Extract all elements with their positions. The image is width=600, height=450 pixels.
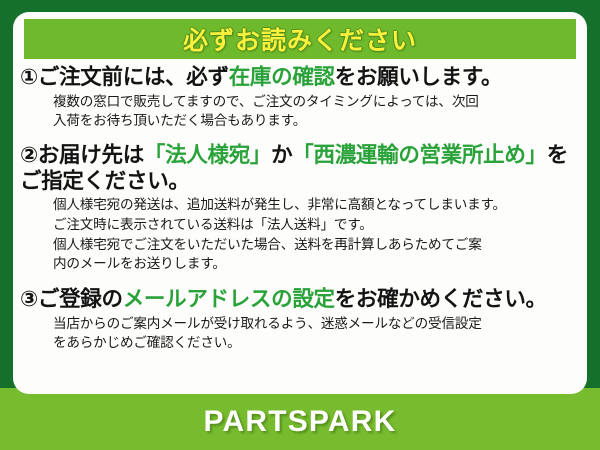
- title-banner: 必ずお読みください: [24, 19, 576, 59]
- notice-item-3-subtext: 当店からのご案内メールが受け取れるよう、迷惑メールなどの受信設定をあらかじめご確…: [13, 314, 587, 353]
- notice-item-2-subtext: 個人様宅宛の発送は、追加送料が発生し、非常に高額となってしまいます。ご注文時に表…: [13, 195, 587, 274]
- heading-segment: ③ご登録の: [20, 287, 123, 311]
- notice-item-2-heading: ②お届け先は「法人様宛」か「西濃運輸の営業所止め」をご指定ください。: [13, 143, 587, 194]
- subtext-line: ご注文時に表示されている送料は「法人送料」です。: [53, 215, 579, 235]
- partspark-logo: PARTSPARK: [203, 405, 396, 439]
- notice-item-2: ②お届け先は「法人様宛」か「西濃運輸の営業所止め」をご指定ください。 個人様宅宛…: [13, 143, 587, 274]
- notice-title: 必ずお読みください: [183, 21, 417, 57]
- footer-logo-area: PARTSPARK: [0, 394, 600, 450]
- heading-segment: 「西濃運輸の営業所止め」: [292, 143, 546, 167]
- notice-card: 必ずお読みください ①ご注文前には、必ず在庫の確認をお願いします。 複数の窓口で…: [0, 0, 600, 450]
- heading-segment: メールアドレスの設定: [123, 287, 335, 311]
- notice-item-1: ①ご注文前には、必ず在庫の確認をお願いします。 複数の窓口で販売してますので、ご…: [13, 65, 587, 131]
- subtext-line: 入荷をお待ち頂いただく場合もあります。: [53, 111, 579, 131]
- notice-item-1-subtext: 複数の窓口で販売してますので、ご注文のタイミングによっては、次回入荷をお待ち頂い…: [13, 92, 587, 131]
- notice-panel: 必ずお読みください ①ご注文前には、必ず在庫の確認をお願いします。 複数の窓口で…: [13, 12, 587, 394]
- notice-items-list: ①ご注文前には、必ず在庫の確認をお願いします。 複数の窓口で販売してますので、ご…: [13, 65, 587, 353]
- subtext-line: 内のメールをお送りします。: [53, 254, 579, 274]
- heading-segment: 在庫の確認: [229, 65, 335, 89]
- subtext-line: 当店からのご案内メールが受け取れるよう、迷惑メールなどの受信設定: [53, 314, 579, 334]
- subtext-line: 個人様宅宛でご注文をいただいた場合、送料を再計算しあらためてご案: [53, 235, 579, 255]
- heading-segment: か: [271, 143, 292, 167]
- heading-segment: をお確かめください。: [335, 287, 547, 311]
- notice-item-3: ③ご登録のメールアドレスの設定をお確かめください。 当店からのご案内メールが受け…: [13, 287, 587, 353]
- notice-item-1-heading: ①ご注文前には、必ず在庫の確認をお願いします。: [13, 65, 587, 91]
- heading-segment: 「法人様宛」: [144, 143, 271, 167]
- heading-segment: ②お届け先は: [20, 143, 144, 167]
- notice-item-3-heading: ③ご登録のメールアドレスの設定をお確かめください。: [13, 287, 587, 313]
- heading-segment: をお願いします。: [335, 65, 502, 89]
- subtext-line: 複数の窓口で販売してますので、ご注文のタイミングによっては、次回: [53, 92, 579, 112]
- heading-segment: ①ご注文前には、必ず: [20, 65, 229, 89]
- subtext-line: 個人様宅宛の発送は、追加送料が発生し、非常に高額となってしまいます。: [53, 195, 579, 215]
- subtext-line: をあらかじめご確認ください。: [53, 333, 579, 353]
